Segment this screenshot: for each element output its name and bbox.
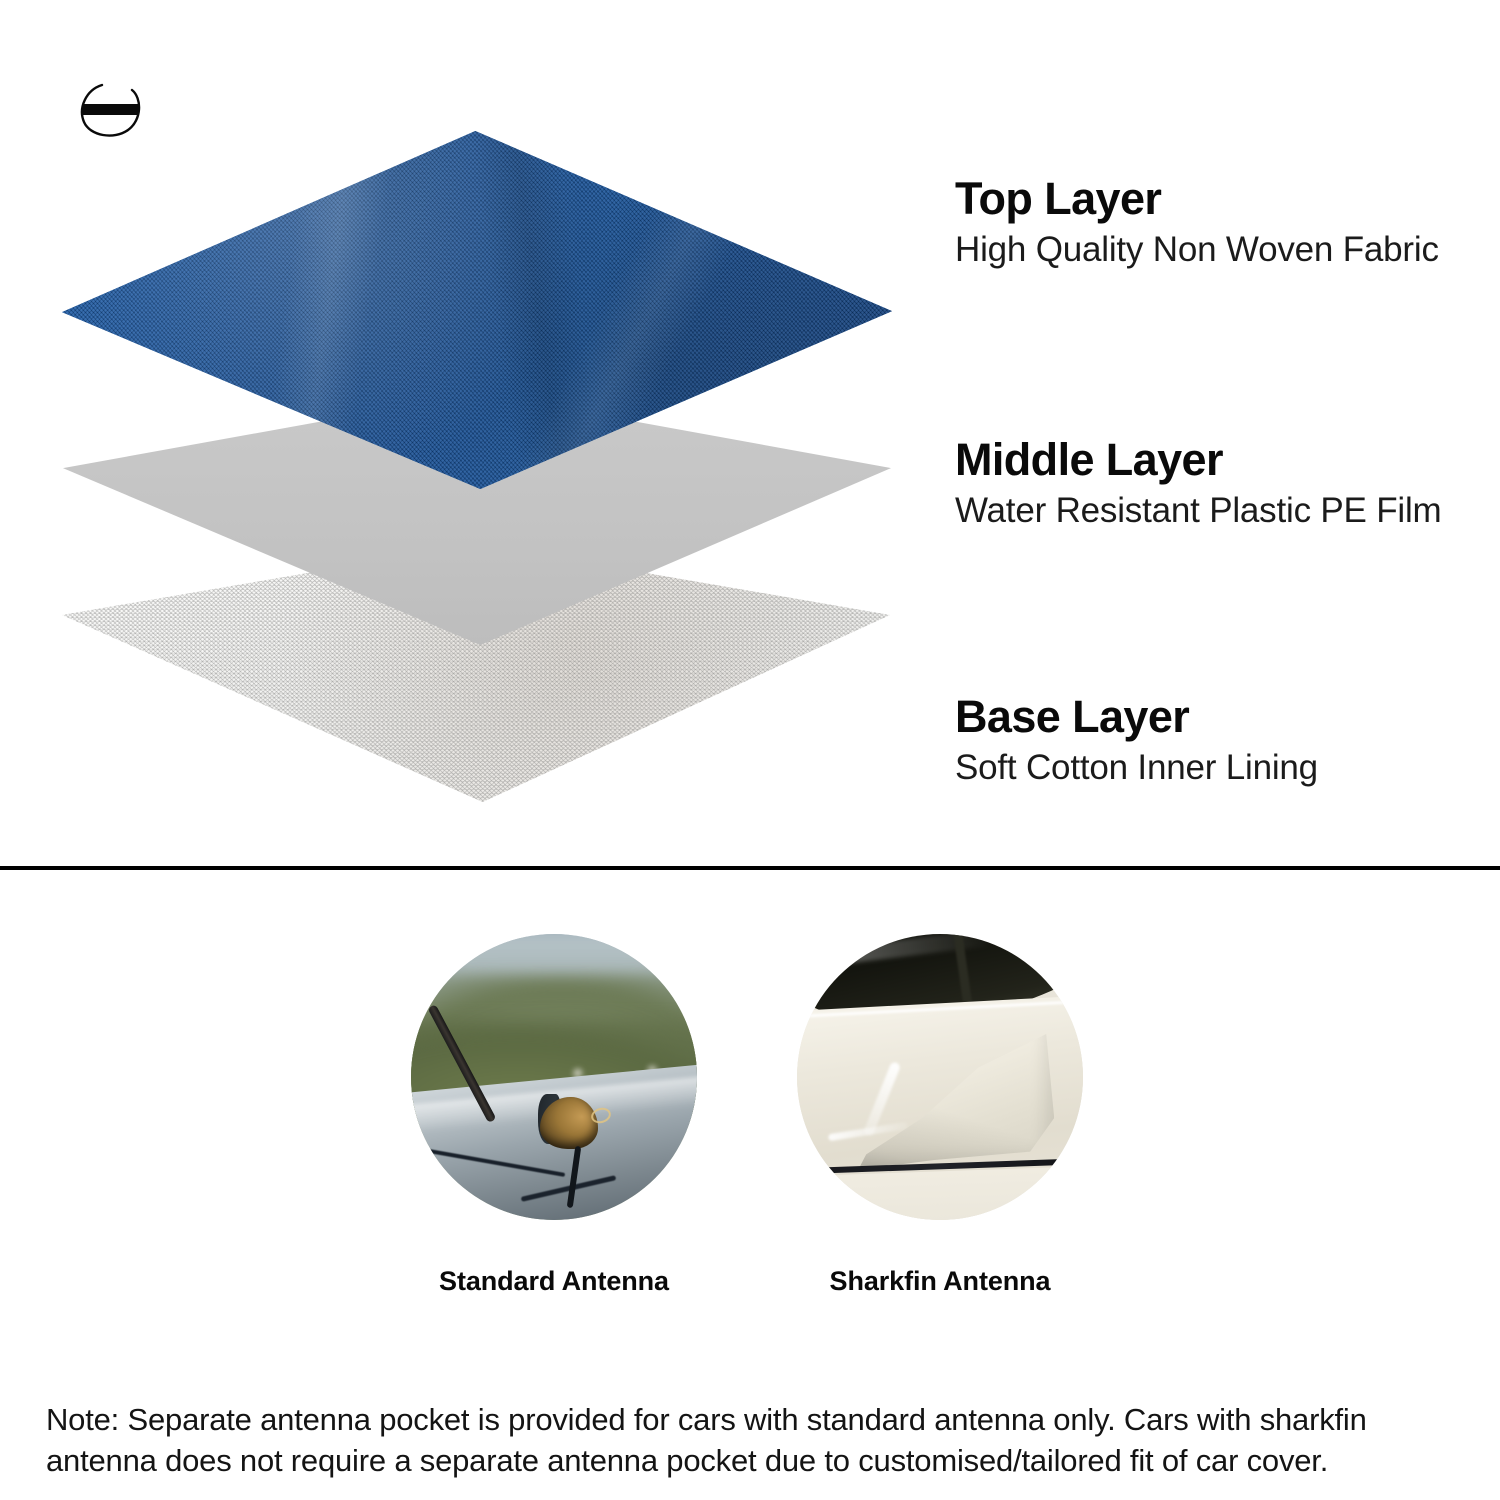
footer-note: Note: Separate antenna pocket is provide…: [46, 1399, 1466, 1481]
layer-caption-base: Base Layer Soft Cotton Inner Lining: [955, 694, 1318, 788]
layer-diagram: [0, 0, 960, 868]
standard-antenna-photo: [411, 934, 697, 1220]
antenna-label-sharkfin: Sharkfin Antenna: [797, 1266, 1083, 1297]
layer-subtitle-middle: Water Resistant Plastic PE Film: [955, 490, 1442, 531]
layer-title-middle: Middle Layer: [955, 437, 1442, 484]
layer-title-base: Base Layer: [955, 694, 1318, 741]
layer-swatch-top: [0, 0, 960, 868]
antenna-option-sharkfin: Sharkfin Antenna: [797, 934, 1083, 1297]
sharkfin-antenna-photo: [797, 934, 1083, 1220]
layer-caption-middle: Middle Layer Water Resistant Plastic PE …: [955, 437, 1442, 531]
section-divider: [0, 866, 1500, 870]
layer-subtitle-base: Soft Cotton Inner Lining: [955, 747, 1318, 788]
antenna-option-standard: Standard Antenna: [411, 934, 697, 1297]
antenna-label-standard: Standard Antenna: [411, 1266, 697, 1297]
layer-subtitle-top: High Quality Non Woven Fabric: [955, 229, 1439, 270]
layer-caption-top: Top Layer High Quality Non Woven Fabric: [955, 176, 1439, 270]
layers-section: Top Layer High Quality Non Woven Fabric …: [0, 0, 1500, 868]
layer-title-top: Top Layer: [955, 176, 1439, 223]
